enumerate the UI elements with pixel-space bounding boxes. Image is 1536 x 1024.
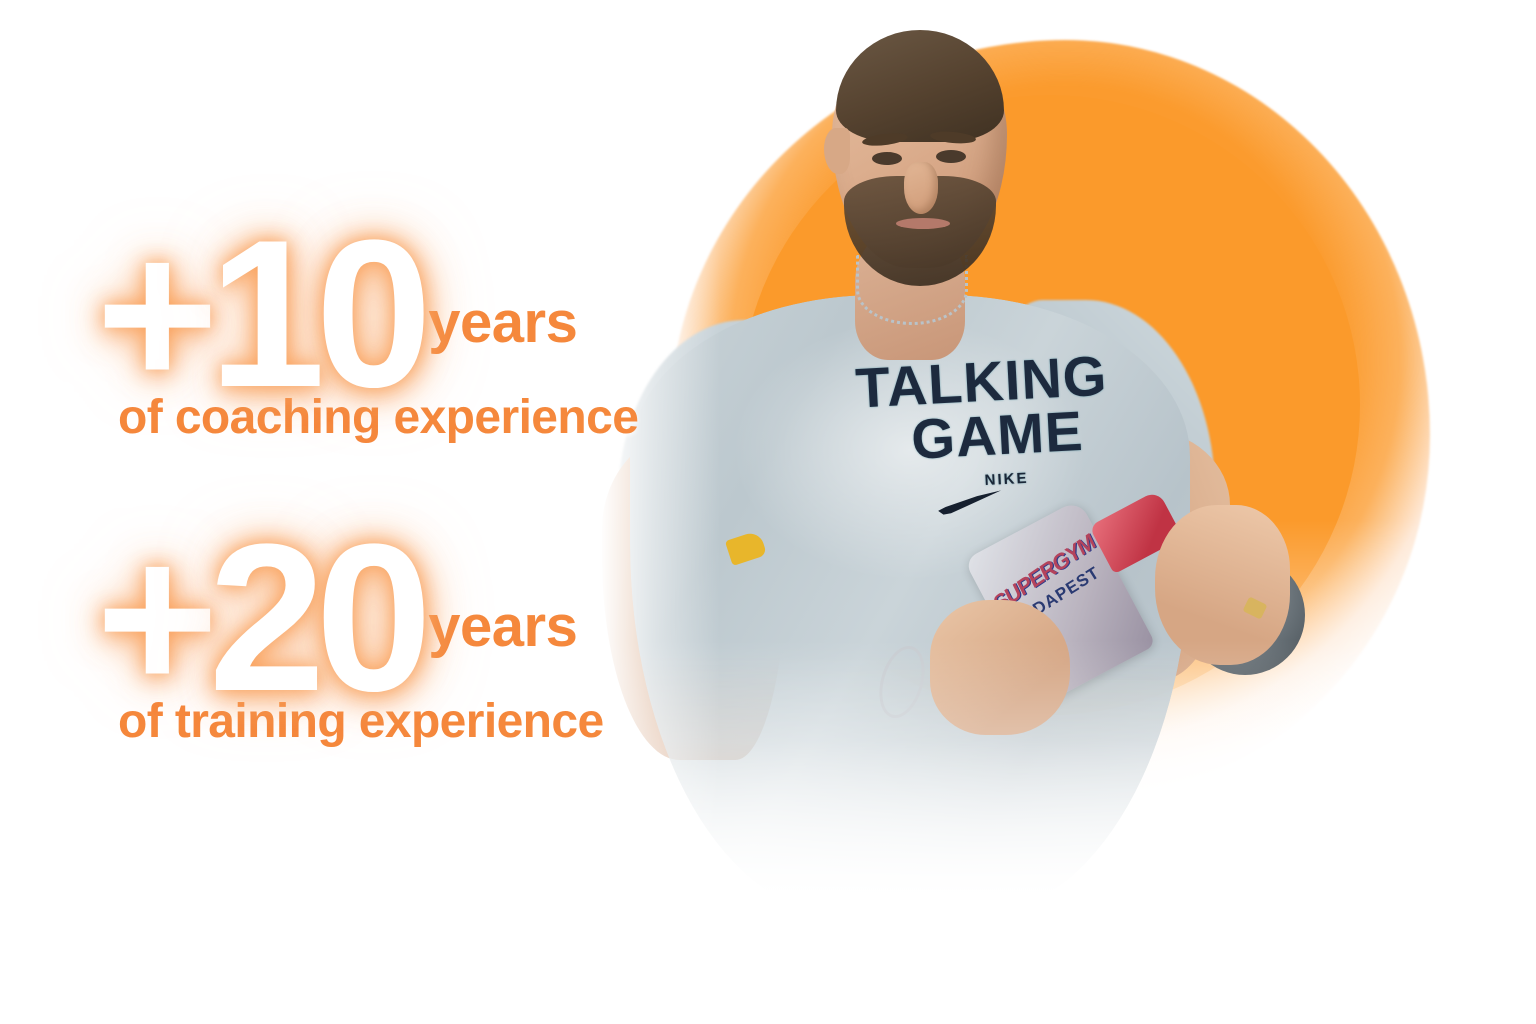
- nike-swoosh-icon: [937, 490, 1002, 515]
- right-hand: [1155, 505, 1290, 665]
- stat-plus-coaching: +: [96, 226, 209, 402]
- left-eye: [872, 152, 902, 165]
- hero-banner: TALKING GAME NIKE SUPERGYM BUDAPEST: [0, 0, 1536, 1024]
- right-eye: [936, 150, 966, 163]
- hair: [836, 30, 1004, 142]
- stat-plus-training: +: [96, 530, 209, 706]
- stats-column: + 10 years of coaching experience + 20 y…: [0, 0, 720, 1024]
- stat-block-training: + 20 years of training experience: [0, 500, 720, 749]
- stat-unit-coaching: years: [428, 289, 577, 356]
- stat-number-coaching: 10: [209, 226, 423, 402]
- mouth: [896, 218, 950, 229]
- stat-headline-training: + 20 years: [0, 500, 720, 700]
- left-ear: [824, 128, 850, 174]
- stat-unit-training: years: [428, 593, 577, 660]
- stat-headline-coaching: + 10 years: [0, 196, 720, 396]
- stat-number-training: 20: [209, 530, 423, 706]
- left-hand: [930, 600, 1070, 735]
- stat-block-coaching: + 10 years of coaching experience: [0, 196, 720, 445]
- nose: [904, 162, 938, 214]
